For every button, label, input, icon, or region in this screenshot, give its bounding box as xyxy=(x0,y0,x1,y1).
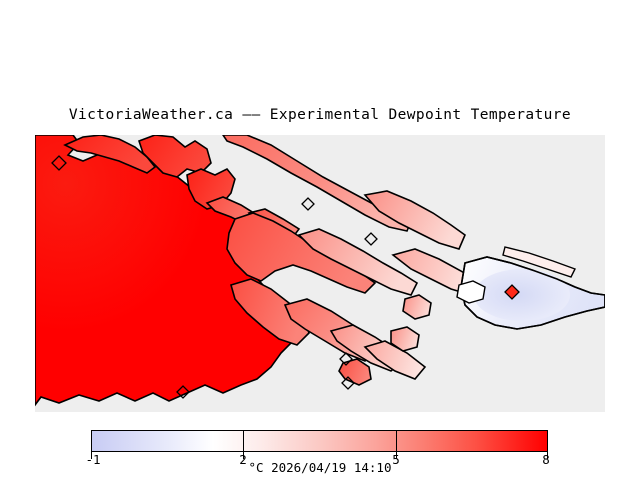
page-title: VictoriaWeather.ca —— Experimental Dewpo… xyxy=(0,107,640,123)
cold-core xyxy=(474,269,570,321)
map-panel[interactable] xyxy=(35,135,605,412)
colorbar-gradient xyxy=(92,431,547,451)
colorbar-caption: °C 2026/04/19 14:10 xyxy=(0,460,640,475)
colorbar xyxy=(91,430,548,452)
dewpoint-heatmap[interactable] xyxy=(35,135,605,412)
far-east-islet xyxy=(457,281,485,303)
